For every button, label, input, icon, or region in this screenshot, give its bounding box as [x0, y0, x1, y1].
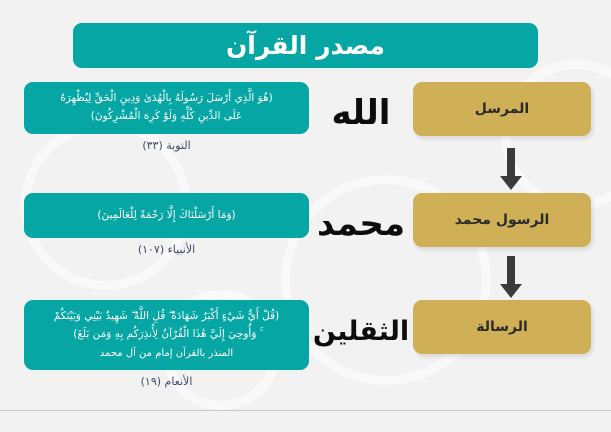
page-title-banner: مصدر القرآن: [73, 23, 538, 68]
verse-reference: التوبة (٣٣): [24, 139, 309, 152]
label-box-message[interactable]: الرسالة: [413, 300, 591, 354]
verse-line: (قُلْ أَيُّ شَيْءٍ أَكْبَرُ شَهَادَةً ۖ …: [33, 307, 300, 325]
calligraphy-muhammad: محمد: [311, 193, 411, 255]
page-title: مصدر القرآن: [226, 33, 385, 58]
calligraphy-thaqalayn: الثقلين: [311, 300, 411, 362]
label-text: الرسالة: [476, 320, 528, 334]
label-box-sender[interactable]: المرسل: [413, 82, 591, 136]
calligraphy-allah: الله: [311, 82, 411, 144]
verse-note: المنذر بالقرآن إمام من آل محمد: [33, 345, 300, 363]
verse-box: (قُلْ أَيُّ شَيْءٍ أَكْبَرُ شَهَادَةً ۖ …: [24, 300, 309, 370]
label-text: المرسل: [475, 102, 529, 116]
verse-line: (وَمَا أَرْسَلْنَاكَ إِلَّا رَحْمَةً لِل…: [33, 206, 300, 224]
label-text: الرسول محمد: [455, 213, 550, 227]
calligraphy-text: محمد: [317, 207, 405, 241]
bottom-divider: [0, 410, 611, 411]
label-box-messenger[interactable]: الرسول محمد: [413, 193, 591, 247]
verse-line: عَلَى الدِّينِ كُلِّهِ وَلَوْ كَرِهَ الْ…: [33, 107, 300, 125]
arrow-sender-to-messenger-icon: [498, 148, 524, 192]
verse-reference: الأنعام (١٩): [24, 375, 309, 388]
verse-block-anam: (قُلْ أَيُّ شَيْءٍ أَكْبَرُ شَهَادَةً ۖ …: [24, 300, 309, 388]
calligraphy-text: الثقلين: [313, 318, 409, 345]
verse-reference: الأنبياء (١٠٧): [24, 243, 309, 256]
verse-box: (وَمَا أَرْسَلْنَاكَ إِلَّا رَحْمَةً لِل…: [24, 193, 309, 238]
diagram-page: مصدر القرآن (هُوَ الَّذِي أَرْسَلَ رَسُو…: [0, 0, 611, 432]
verse-block-tawbah: (هُوَ الَّذِي أَرْسَلَ رَسُولَهُ بِالْهُ…: [24, 82, 309, 152]
arrow-messenger-to-message-icon: [498, 256, 524, 300]
verse-line: (هُوَ الَّذِي أَرْسَلَ رَسُولَهُ بِالْهُ…: [33, 89, 300, 107]
verse-block-anbiya: (وَمَا أَرْسَلْنَاكَ إِلَّا رَحْمَةً لِل…: [24, 193, 309, 256]
calligraphy-text: الله: [332, 96, 391, 130]
verse-line: ۚ وَأُوحِيَ إِلَيَّ هَٰذَا الْقُرْآنُ لِ…: [33, 325, 300, 343]
verse-box: (هُوَ الَّذِي أَرْسَلَ رَسُولَهُ بِالْهُ…: [24, 82, 309, 134]
